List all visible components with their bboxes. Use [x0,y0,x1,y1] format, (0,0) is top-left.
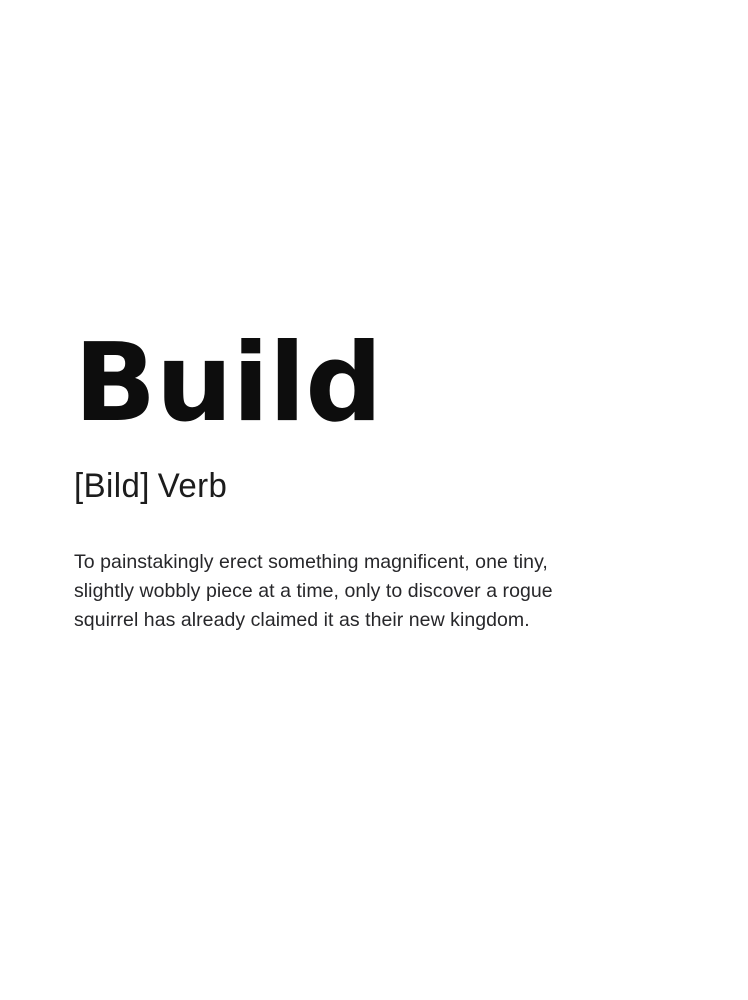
meaning-line: slightly wobbly piece at a time, only to… [74,577,640,606]
pronunciation-text: [Bild] [74,466,150,504]
meaning-line: squirrel has already claimed it as their… [74,606,640,635]
pronunciation-and-part-of-speech: [Bild]Verb [74,468,674,502]
definition-block: Build [Bild]Verb To painstakingly erect … [74,330,674,635]
part-of-speech-label: Verb [158,466,228,504]
term-title: Build [74,330,674,438]
definition-poster: Build [Bild]Verb To painstakingly erect … [0,0,748,1000]
meaning-line: To painstakingly erect something magnifi… [74,548,640,577]
definition-meaning: To painstakingly erect something magnifi… [74,548,640,635]
